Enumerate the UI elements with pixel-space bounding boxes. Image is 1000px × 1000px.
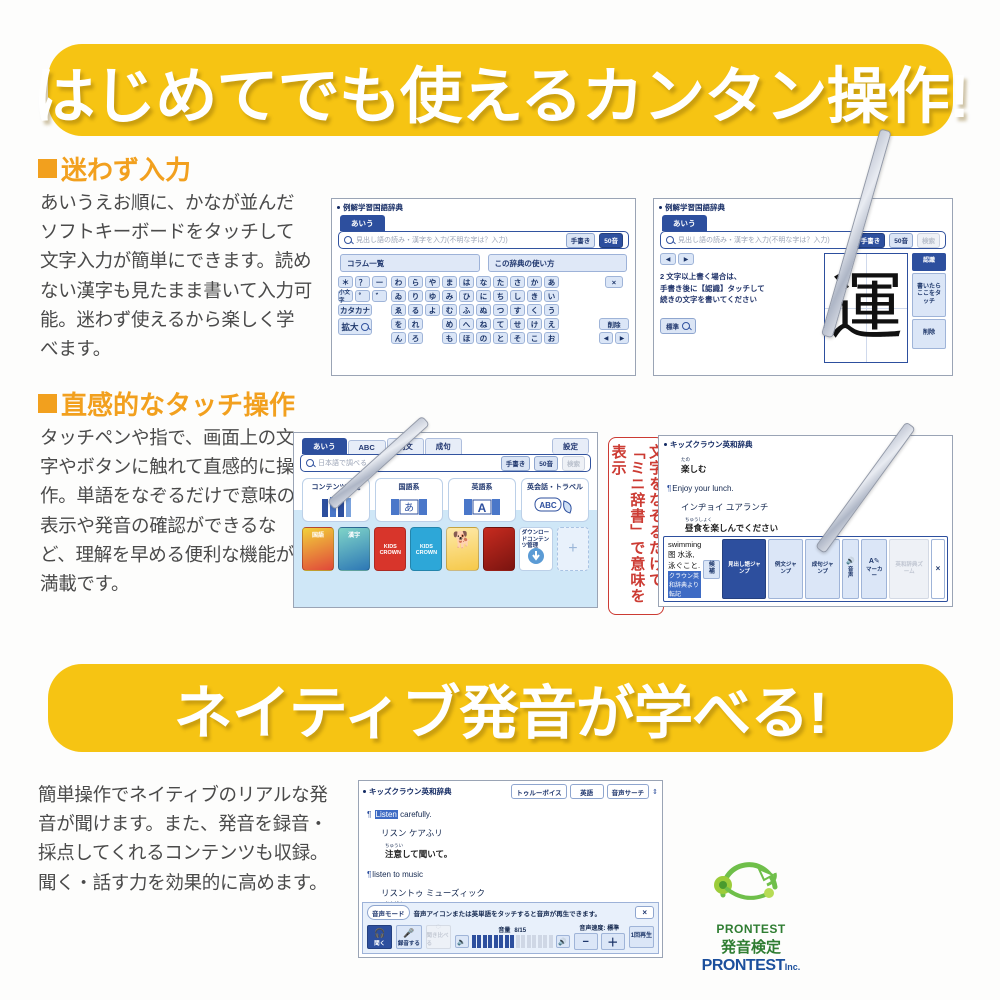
prev-arrow-icon[interactable]: ◀ bbox=[660, 253, 676, 265]
section-heading-input-label: 迷わず入力 bbox=[61, 150, 191, 187]
download-content-tile[interactable]: ダウンロードコンテンツ管理 bbox=[519, 527, 553, 571]
section-body-pronunciation: 簡単操作でネイティブのリアルな発音が聞けます。また、発音を録音・採点してくれるコ… bbox=[38, 780, 338, 897]
dictionary-zoom-button[interactable]: 英和辞典ズーム bbox=[889, 539, 929, 599]
book-tile[interactable]: KIDS CROWN bbox=[410, 527, 442, 571]
key-handakuten[interactable]: ゜ bbox=[355, 290, 370, 302]
kana-row: ん ろ も ほ の と そ こ お bbox=[391, 332, 559, 344]
kana-key[interactable]: た bbox=[493, 276, 508, 288]
entry-1-ruby: ちゅうい bbox=[385, 844, 654, 849]
kana-grid[interactable]: わ ら や ま は な た さ か あ ゐ り ゆ み ひ に bbox=[391, 276, 559, 344]
search-input[interactable]: 見出し語の読み・漢字を入力(不明な字は？入力) bbox=[356, 235, 562, 245]
example-1-japanese: 昼食を楽しんでください bbox=[685, 523, 778, 533]
volume-value: 8/15 bbox=[514, 928, 526, 934]
category-english[interactable]: 英語系 A bbox=[448, 478, 516, 522]
close-icon[interactable]: × bbox=[635, 906, 654, 919]
category-conversation-travel[interactable]: 英会話・トラベル ABC bbox=[521, 478, 589, 522]
dog-mascot-icon: 🐕 bbox=[453, 530, 473, 550]
device-pronunciation[interactable]: キッズクラウン英和辞典 トゥルーボイス 英語 音声サーチ ⇕ Listen ca… bbox=[358, 780, 663, 958]
zoom-in-label: 拡大 bbox=[341, 321, 358, 333]
tab-aiu[interactable]: あいう bbox=[662, 215, 707, 231]
kana-key[interactable]: む bbox=[442, 304, 457, 316]
banner-native-pronunciation: ネイティブ発音が学べる! bbox=[48, 664, 953, 752]
entry-2-english[interactable]: listen to music bbox=[367, 869, 654, 881]
dict-title: 例解学習国語辞典 bbox=[343, 202, 403, 213]
tab-row: あいう ABC 例文 成句 設定 bbox=[294, 433, 597, 454]
search-bar[interactable]: 見出し語の読み・漢字を入力(不明な字は？入力) 手書き 50音 bbox=[338, 231, 629, 249]
howto-link[interactable]: この辞典の使い方 bbox=[488, 254, 628, 272]
search-input[interactable]: 見出し語の読み・漢字を入力(不明な字は？入力) bbox=[678, 235, 852, 245]
instruction-line-2: 手書き後に【認識】タッチして bbox=[660, 283, 820, 295]
speed-plus-button[interactable]: ＋ bbox=[601, 933, 625, 950]
audio-mode-label[interactable]: 音声モード bbox=[367, 905, 410, 920]
device-handwriting[interactable]: 例解学習国語辞典 あいう 見出し語の読み・漢字を入力(不明な字は？入力) 手書き… bbox=[653, 198, 953, 376]
prontest-inc-line: PRONTESTInc. bbox=[676, 957, 826, 975]
compare-icon: ◌ bbox=[435, 921, 440, 931]
kana-key[interactable]: は bbox=[459, 276, 474, 288]
square-bullet-icon bbox=[38, 394, 57, 413]
close-icon[interactable]: × bbox=[931, 539, 945, 599]
kana-key[interactable]: ほ bbox=[459, 332, 474, 344]
device-kana-keyboard[interactable]: 例解学習国語辞典 あいう 見出し語の読み・漢字を入力(不明な字は？入力) 手書き… bbox=[331, 198, 636, 376]
kana-key[interactable]: ふ bbox=[459, 304, 474, 316]
kana-key[interactable]: わ bbox=[391, 276, 406, 288]
kana-row: わ ら や ま は な た さ か あ bbox=[391, 276, 559, 288]
kana-key[interactable]: し bbox=[510, 290, 525, 302]
kana-key[interactable]: あ bbox=[544, 276, 559, 288]
section-body-input: あいうえお順に、かなが並んだソフトキーボードをタッチして文字入力が簡単にできます… bbox=[40, 188, 312, 363]
search-bar[interactable]: 見出し語の読み・漢字を入力(不明な字は？入力) 手書き 50音 検索 bbox=[660, 231, 946, 249]
key-gap bbox=[425, 318, 440, 330]
magnifier-minus-icon bbox=[682, 322, 690, 330]
book-tile[interactable]: 🐕 bbox=[446, 527, 478, 571]
speed-minus-button[interactable]: − bbox=[574, 933, 598, 950]
keyboard-right-controls[interactable]: × 削除 ◀ ▶ bbox=[599, 276, 629, 344]
mini-dict-source: クラウン英和辞典より転記 bbox=[668, 571, 701, 598]
example-jump-button[interactable]: 例文ジャンプ bbox=[768, 539, 803, 599]
download-arrow-icon bbox=[526, 547, 546, 568]
kana-key[interactable]: へ bbox=[459, 318, 474, 330]
zoom-in-button[interactable]: 拡大 bbox=[338, 318, 372, 335]
audio-button[interactable]: 🔊 音声 bbox=[842, 539, 859, 599]
headword-jump-button[interactable]: 見出し語ジャンプ bbox=[722, 539, 766, 599]
bullet-icon bbox=[664, 443, 667, 446]
voice-search-button[interactable]: 音声サーチ bbox=[607, 784, 650, 799]
delete-button[interactable]: 削除 bbox=[912, 319, 946, 349]
kana-key[interactable]: ね bbox=[476, 318, 491, 330]
scroll-updown-icon[interactable]: ⇕ bbox=[652, 788, 658, 796]
headset-pronunciation-icon bbox=[676, 855, 826, 922]
fifty-sounds-button[interactable]: 50音 bbox=[889, 233, 913, 248]
volume-label: 音量 bbox=[498, 925, 510, 934]
audio-controls-row[interactable]: 🎧 聞く 🎤 録音する ◌ 聞き比べる 音量 8/15 bbox=[363, 922, 658, 953]
section-heading-touch: 直感的なタッチ操作 bbox=[38, 385, 295, 422]
close-icon[interactable]: × bbox=[605, 276, 623, 288]
volume-meter[interactable] bbox=[472, 935, 553, 948]
kana-key[interactable]: の bbox=[476, 332, 491, 344]
book-shelf[interactable]: 国語 漢字 KIDS CROWN KIDS CROWN 🐕 ダウンロードコンテン… bbox=[294, 522, 597, 571]
banner-second-text: ネイティブ発音が学べる! bbox=[174, 666, 828, 750]
mini-dict-word: swimming bbox=[668, 540, 701, 549]
key-gap bbox=[425, 332, 440, 344]
speaker-icon: 🔊 bbox=[846, 558, 855, 567]
kana-key[interactable]: も bbox=[442, 332, 457, 344]
kana-key[interactable]: つ bbox=[493, 304, 508, 316]
mini-dict-text: swimming 图 水泳, 泳ぐこと. クラウン英和辞典より転記 bbox=[666, 539, 703, 599]
handwrite-button[interactable]: 手書き bbox=[501, 456, 531, 471]
dict-title-bar: キッズクラウン英和辞典 bbox=[363, 786, 452, 797]
book-tile[interactable]: KIDS CROWN bbox=[374, 527, 406, 571]
audio-mode-row: 音声モード 音声アイコンまたは英単語をタッチすると音声が再生できます。 × bbox=[363, 903, 658, 922]
next-arrow-icon[interactable]: ▶ bbox=[615, 332, 629, 344]
kana-key[interactable]: さ bbox=[510, 276, 525, 288]
pen-marker-icon: A✎ bbox=[869, 558, 880, 567]
category-label: 国語系 bbox=[378, 482, 440, 492]
key-longvowel[interactable]: ー bbox=[372, 276, 387, 288]
kana-key[interactable]: て bbox=[493, 318, 508, 330]
search-input[interactable]: 日本語で調べる bbox=[318, 458, 497, 468]
mini-dictionary-popup[interactable]: swimming 图 水泳, 泳ぐこと. クラウン英和辞典より転記 候補 見出し… bbox=[663, 536, 948, 602]
square-bullet-icon bbox=[38, 159, 57, 178]
marker-label: マーカー bbox=[865, 567, 883, 581]
kana-key[interactable]: と bbox=[493, 332, 508, 344]
category-label: 英語系 bbox=[451, 482, 513, 492]
kana-key[interactable]: ゆ bbox=[425, 290, 440, 302]
example-1-english[interactable]: Enjoy your lunch. bbox=[667, 483, 944, 495]
function-key-column[interactable]: ＊ ？ ー 小文字 ゜ ゛ カタカナ 拡大 bbox=[338, 276, 387, 344]
listen-label: 聞く bbox=[374, 939, 385, 947]
dict-title-bar: 例解学習国語辞典 bbox=[654, 199, 952, 213]
tab-row: あいう bbox=[332, 213, 635, 231]
kana-key[interactable]: せ bbox=[510, 318, 525, 330]
kana-key[interactable]: な bbox=[476, 276, 491, 288]
english-language-button[interactable]: 英語 bbox=[570, 784, 604, 799]
search-icon bbox=[344, 236, 352, 244]
category-label: 英会話・トラベル bbox=[524, 482, 586, 492]
book-tile[interactable]: 国語 bbox=[302, 527, 334, 571]
instruction-line-1: 2 文字以上書く場合は、 bbox=[660, 271, 820, 283]
kana-key[interactable]: ち bbox=[493, 290, 508, 302]
device-dictionary-entry[interactable]: キッズクラウン英和辞典 たの 楽しむ Enjoy your lunch. インヂ… bbox=[658, 435, 953, 607]
kana-key[interactable]: き bbox=[527, 290, 542, 302]
kana-key[interactable]: ま bbox=[442, 276, 457, 288]
banner-easy-operation: はじめてでも使えるカンタン操作! bbox=[48, 44, 953, 136]
record-button[interactable]: 🎤 録音する bbox=[396, 925, 421, 949]
a-book-icon: A bbox=[451, 495, 513, 521]
fifty-sounds-button[interactable]: 50音 bbox=[599, 233, 623, 248]
column-list-link[interactable]: コラム一覧 bbox=[340, 254, 480, 272]
truevoice-button[interactable]: トゥルーボイス bbox=[511, 784, 566, 799]
kana-key[interactable]: お bbox=[544, 332, 559, 344]
entry-2-katakana: リスントゥ ミューズィック bbox=[367, 887, 654, 900]
kana-key[interactable]: け bbox=[527, 318, 542, 330]
bullet-icon bbox=[337, 206, 340, 209]
volume-down-icon[interactable]: 🔈 bbox=[455, 935, 469, 948]
book-tile[interactable] bbox=[483, 527, 515, 571]
section-heading-input: 迷わず入力 bbox=[38, 150, 191, 187]
add-tile-button[interactable]: + bbox=[557, 527, 589, 571]
touch-hint-label: 書いたらここをタッチ bbox=[912, 273, 946, 317]
microphone-icon: 🎤 bbox=[403, 928, 414, 939]
standard-size-button[interactable]: 標準 bbox=[660, 318, 696, 334]
advertisement-page: はじめてでも使えるカンタン操作! 迷わず入力 あいうえお順に、かなが並んだソフト… bbox=[0, 0, 1000, 1000]
magnifier-plus-icon bbox=[361, 323, 369, 331]
trace-callout: 文字をなぞるだけで「ミニ辞書」で意味を表示 bbox=[608, 437, 664, 615]
kana-key[interactable]: や bbox=[425, 276, 440, 288]
section-body-touch: タッチペンや指で、画面上の文字やボタンに触れて直感的に操作。単語をなぞるだけで意… bbox=[40, 423, 308, 598]
key-question[interactable]: ？ bbox=[355, 276, 370, 288]
inc-suffix: Inc. bbox=[785, 962, 801, 972]
search-button[interactable]: 検索 bbox=[562, 456, 585, 471]
audio-label: 音声 bbox=[846, 567, 855, 581]
dict-title: キッズクラウン英和辞典 bbox=[369, 786, 452, 797]
handwrite-button[interactable]: 手書き bbox=[566, 233, 596, 248]
kana-key[interactable]: い bbox=[544, 290, 559, 302]
handwriting-side-buttons[interactable]: 認識 書いたらここをタッチ 削除 bbox=[912, 253, 946, 363]
recognize-button[interactable]: 認識 bbox=[912, 253, 946, 271]
kana-key[interactable]: り bbox=[408, 290, 423, 302]
kana-key[interactable]: み bbox=[442, 290, 457, 302]
delete-button[interactable]: 削除 bbox=[599, 318, 629, 330]
kana-book-icon: あ bbox=[378, 495, 440, 521]
tab-row: あいう bbox=[654, 213, 952, 231]
kana-key[interactable]: く bbox=[527, 304, 542, 316]
tab-idiom[interactable]: 成句 bbox=[425, 438, 462, 454]
standard-label: 標準 bbox=[666, 321, 679, 331]
entry-body: Listen carefully. リスン ケアふリ ちゅうい 注意して聞いて。… bbox=[359, 799, 662, 906]
audio-control-bar[interactable]: 音声モード 音声アイコンまたは英単語をタッチすると音声が再生できます。 × 🎧 … bbox=[362, 902, 659, 954]
kana-key[interactable]: ゑ bbox=[391, 304, 406, 316]
bullet-icon bbox=[659, 206, 662, 209]
tab-aiu[interactable]: あいう bbox=[302, 438, 347, 454]
search-button[interactable]: 検索 bbox=[917, 233, 940, 248]
kana-key[interactable]: こ bbox=[527, 332, 542, 344]
kana-key[interactable]: れ bbox=[408, 318, 423, 330]
next-arrow-icon[interactable]: ▶ bbox=[678, 253, 694, 265]
entry-1-japanese: 注意して聞いて。 bbox=[385, 849, 452, 859]
kana-row: を れ め へ ね て せ け え bbox=[391, 318, 559, 330]
key-small-char[interactable]: 小文字 bbox=[338, 290, 353, 302]
book-tile[interactable]: 漢字 bbox=[338, 527, 370, 571]
kana-key[interactable]: る bbox=[408, 304, 423, 316]
dict-title: 例解学習国語辞典 bbox=[665, 202, 725, 213]
kana-key[interactable]: か bbox=[527, 276, 542, 288]
candidates-button[interactable]: 候補 bbox=[703, 560, 720, 579]
svg-text:ABC: ABC bbox=[539, 501, 557, 510]
bullet-icon bbox=[363, 790, 366, 793]
kana-key[interactable]: よ bbox=[425, 304, 440, 316]
kana-key[interactable]: に bbox=[476, 290, 491, 302]
trace-callout-text: 文字をなぞるだけで「ミニ辞書」で意味を表示 bbox=[608, 444, 664, 608]
kana-key[interactable]: め bbox=[442, 318, 457, 330]
compare-label: 聞き比べる bbox=[427, 931, 450, 947]
svg-text:A: A bbox=[478, 501, 487, 515]
entry-1-rest: carefully. bbox=[398, 810, 432, 819]
marker-button[interactable]: A✎ マーカー bbox=[861, 539, 887, 599]
category-japanese[interactable]: 国語系 あ bbox=[375, 478, 443, 522]
kana-key[interactable]: ぬ bbox=[476, 304, 491, 316]
entry-1-katakana: リスン ケアふリ bbox=[367, 827, 654, 840]
key-asterisk[interactable]: ＊ bbox=[338, 276, 353, 288]
entry-1-english[interactable]: Listen carefully. bbox=[367, 809, 654, 821]
headword: 楽しむ bbox=[681, 464, 707, 474]
audio-hint-text: 音声アイコンまたは英単語をタッチすると音声が再生できます。 bbox=[414, 908, 602, 918]
kana-key[interactable]: ん bbox=[391, 332, 406, 344]
svg-text:あ: あ bbox=[404, 502, 414, 514]
kana-key[interactable]: ゐ bbox=[391, 290, 406, 302]
headword-ruby: たの bbox=[681, 458, 944, 463]
highlighted-word[interactable]: Listen bbox=[375, 810, 398, 819]
search-bar[interactable]: 日本語で調べる 手書き 50音 検索 bbox=[300, 454, 591, 472]
kana-key[interactable]: う bbox=[544, 304, 559, 316]
play-once-button[interactable]: 1回再生 bbox=[629, 926, 654, 948]
device-content-menu[interactable]: あいう ABC 例文 成句 設定 日本語で調べる 手書き 50音 検索 コンテン… bbox=[293, 432, 598, 608]
record-label: 録音する bbox=[398, 939, 420, 947]
search-icon bbox=[306, 459, 314, 467]
prontest-logo: PRONTEST 発音検定 PRONTESTInc. bbox=[676, 855, 826, 975]
instruction-line-3: 続きの文字を書いてください bbox=[660, 294, 820, 306]
kana-key[interactable]: そ bbox=[510, 332, 525, 344]
listen-button[interactable]: 🎧 聞く bbox=[367, 925, 392, 949]
mini-dict-entry: swimming 图 水泳, 泳ぐこと. bbox=[668, 540, 701, 571]
prontest-wordmark-blue: PRONTEST bbox=[702, 957, 785, 974]
download-content-label: ダウンロードコンテンツ管理 bbox=[522, 530, 550, 549]
abc-balloon-icon: ABC bbox=[524, 495, 586, 521]
kana-key[interactable]: え bbox=[544, 318, 559, 330]
mini-dict-pos: 图 bbox=[668, 550, 676, 559]
kana-key[interactable]: ひ bbox=[459, 290, 474, 302]
fifty-sounds-button[interactable]: 50音 bbox=[534, 456, 558, 471]
section-heading-touch-label: 直感的なタッチ操作 bbox=[61, 385, 295, 422]
volume-up-icon[interactable]: 🔊 bbox=[556, 935, 570, 948]
kana-key[interactable]: を bbox=[391, 318, 406, 330]
headphone-icon: 🎧 bbox=[374, 928, 385, 939]
speed-label: 音声速度: 標準 bbox=[579, 923, 619, 932]
dict-title-bar: 例解学習国語辞典 bbox=[332, 199, 635, 213]
prontest-wordmark-green: PRONTEST bbox=[676, 922, 826, 936]
dict-title: キッズクラウン英和辞典 bbox=[670, 439, 753, 450]
pronunciation-test-label: 発音検定 bbox=[676, 936, 826, 957]
prev-arrow-icon[interactable]: ◀ bbox=[599, 332, 613, 344]
banner-first-text: はじめてでも使えるカンタン操作! bbox=[33, 46, 969, 135]
compare-button[interactable]: ◌ 聞き比べる bbox=[426, 925, 451, 949]
example-1-ruby: ちゅうしょく bbox=[685, 518, 944, 523]
search-icon bbox=[666, 236, 674, 244]
key-dakuten[interactable]: ゛ bbox=[372, 290, 387, 302]
handwrite-instruction: 2 文字以上書く場合は、 手書き後に【認識】タッチして 続きの文字を書いてくださ… bbox=[660, 271, 820, 306]
kana-row: ゑ る よ む ふ ぬ つ す く う bbox=[391, 304, 559, 316]
kana-key[interactable]: す bbox=[510, 304, 525, 316]
tab-aiu[interactable]: あいう bbox=[340, 215, 385, 231]
key-katakana[interactable]: カタカナ bbox=[338, 304, 372, 316]
example-1-katakana: インヂョイ ユアランチ bbox=[667, 501, 944, 514]
kana-row: ゐ り ゆ み ひ に ち し き い bbox=[391, 290, 559, 302]
kana-key[interactable]: ら bbox=[408, 276, 423, 288]
settings-button[interactable]: 設定 bbox=[552, 438, 589, 454]
kana-key[interactable]: ろ bbox=[408, 332, 423, 344]
kana-keyboard[interactable]: ＊ ？ ー 小文字 ゜ ゛ カタカナ 拡大 bbox=[332, 272, 635, 344]
